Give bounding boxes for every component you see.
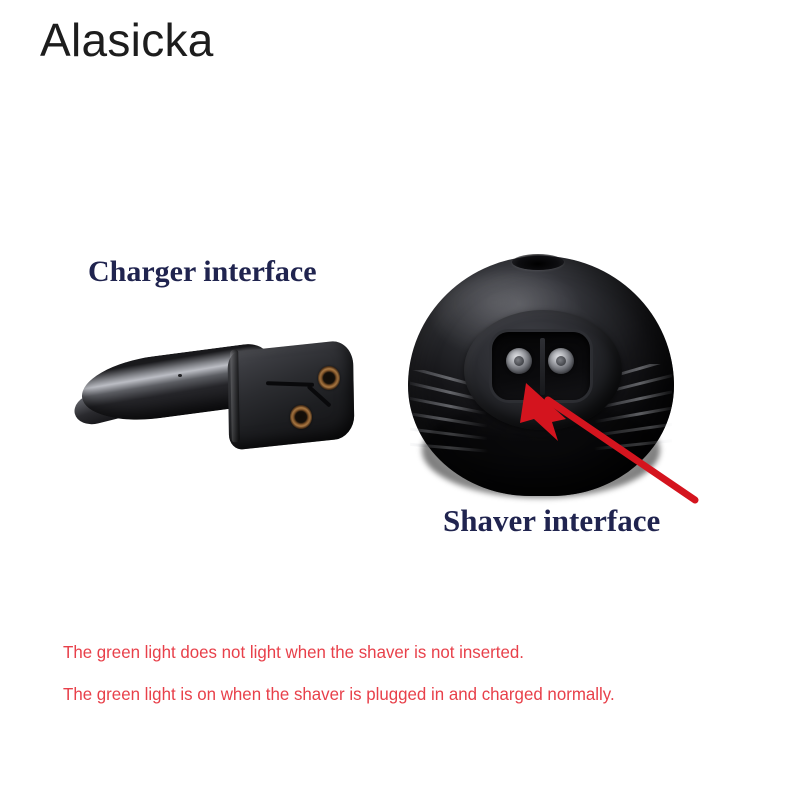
- connector-pin-hole: [318, 366, 340, 390]
- charger-cable-connector-photo: [80, 330, 365, 465]
- socket-contact-pin: [506, 348, 532, 374]
- brand-title: Alasicka: [40, 14, 214, 67]
- dock-top-slot: [512, 254, 564, 270]
- socket-contact-pin: [548, 348, 574, 374]
- note-line-charging-normally: The green light is on when the shaver is…: [63, 684, 615, 705]
- moulding-dot: [178, 374, 182, 377]
- connector-pin-hole: [290, 405, 312, 429]
- note-line-shaver-not-inserted: The green light does not light when the …: [63, 642, 524, 663]
- red-pointer-arrow: [500, 375, 710, 510]
- connector-collar: [230, 349, 240, 442]
- arrow-head: [520, 383, 566, 441]
- label-shaver-interface: Shaver interface: [443, 503, 660, 539]
- label-charger-interface: Charger interface: [88, 255, 317, 289]
- arrow-shaft: [548, 400, 695, 500]
- product-infographic: Alasicka Charger interface: [0, 0, 800, 800]
